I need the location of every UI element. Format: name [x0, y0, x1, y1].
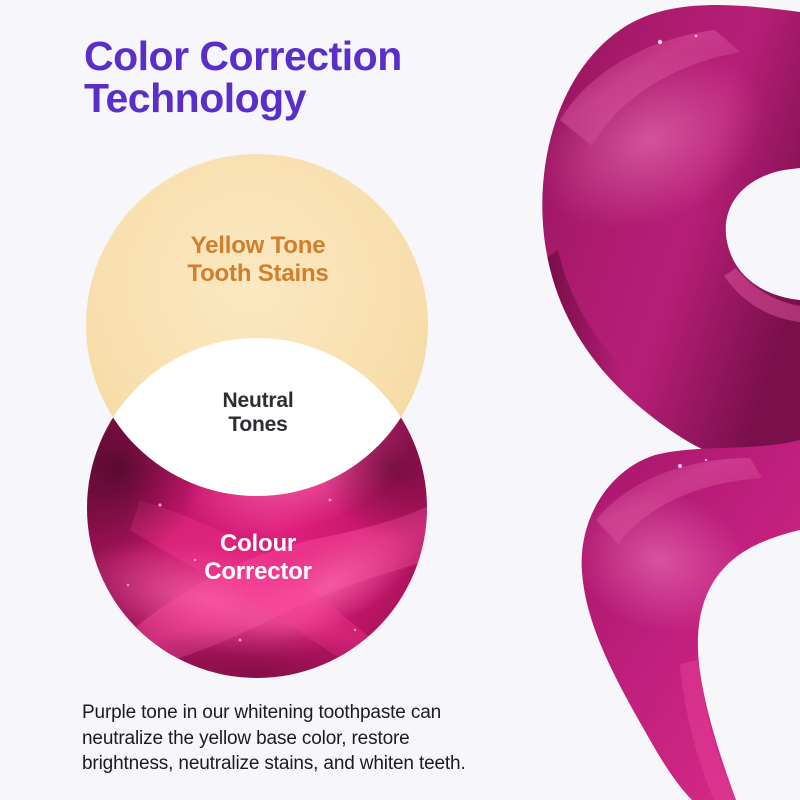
venn-label-colour-corrector: Colour Corrector	[137, 530, 379, 586]
venn-circle-colour-corrector	[33, 338, 462, 720]
poster-canvas: Color Correction Technology	[0, 0, 800, 800]
venn-label-neutral-tones: Neutral Tones	[162, 389, 354, 438]
venn-label-yellow-tone: Yellow Tone Tooth Stains	[122, 232, 394, 288]
purple-gel-swirl-image	[500, 0, 800, 800]
description-text: Purple tone in our whitening toothpaste …	[82, 700, 552, 777]
gel-swirl-lower	[553, 440, 800, 800]
gel-swirl-upper	[507, 5, 800, 474]
venn-circle-yellow-tone	[86, 154, 428, 496]
page-title: Color Correction Technology	[84, 36, 554, 120]
venn-overlap-lens	[87, 338, 427, 678]
